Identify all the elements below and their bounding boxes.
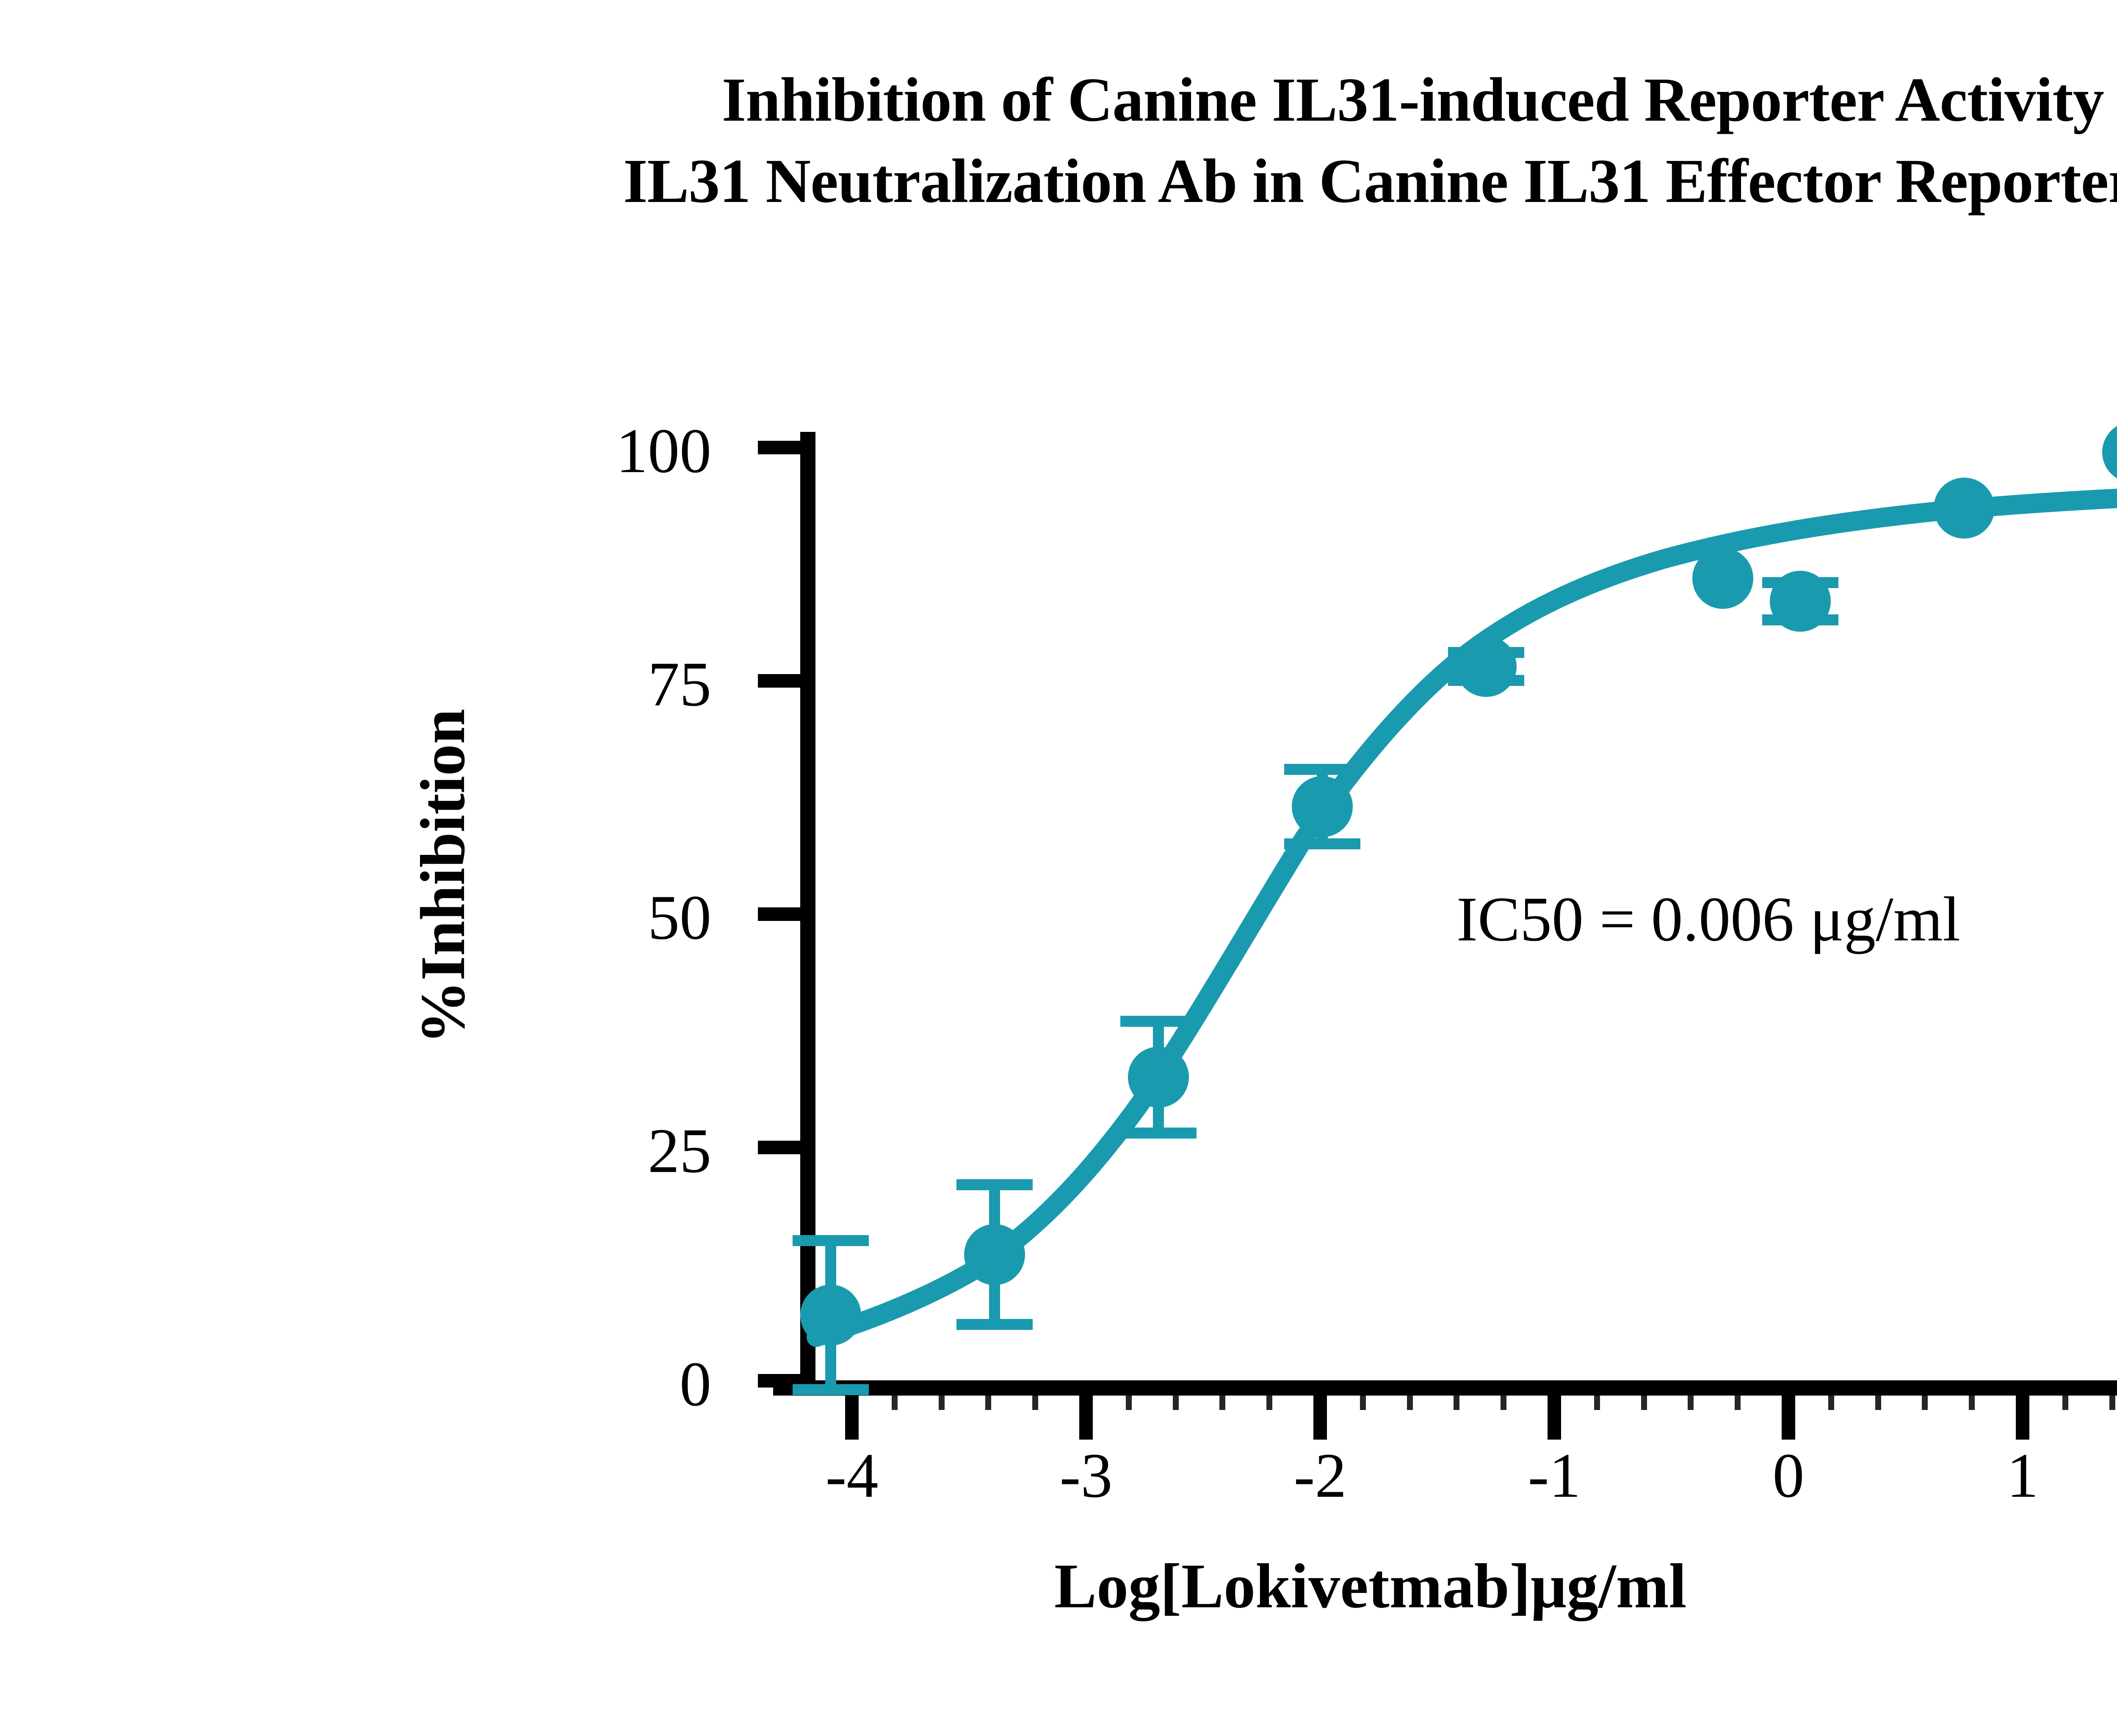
- x-tick-label-0: 0: [1725, 1444, 1852, 1507]
- plot-area: 100 75 50 25 0 -4 -3 -2 -1 0 1 2 %Inhibi…: [0, 0, 2117, 1736]
- data-point: [2102, 422, 2117, 483]
- x-axis-minor-ticks: [892, 1396, 2117, 1410]
- y-axis-title: %Inhibition: [406, 580, 491, 1173]
- figure-root: Inhibition of Canine IL31-induced Report…: [0, 0, 2117, 1736]
- data-point: [800, 1285, 861, 1346]
- x-tick-label--3: -3: [1023, 1444, 1150, 1507]
- x-tick-label--2: -2: [1257, 1444, 1384, 1507]
- y-tick-label-0: 0: [525, 1352, 711, 1416]
- y-tick-label-100: 100: [525, 419, 711, 483]
- x-tick-label-1: 1: [1959, 1444, 2086, 1507]
- data-point: [1456, 636, 1517, 697]
- data-point: [964, 1224, 1025, 1285]
- x-tick-label--4: -4: [788, 1444, 915, 1507]
- y-tick-label-25: 25: [525, 1119, 711, 1183]
- data-point: [1934, 478, 1995, 539]
- data-point: [1692, 548, 1753, 609]
- x-axis-title: Log[Lokivetmab]μg/ml: [0, 1550, 2117, 1623]
- y-tick-label-50: 50: [525, 886, 711, 949]
- x-tick-label--1: -1: [1491, 1444, 1618, 1507]
- y-tick-label-75: 75: [525, 652, 711, 716]
- ic50-annotation: IC50 = 0.006 μg/ml: [1456, 883, 1960, 956]
- data-point: [1128, 1047, 1189, 1108]
- error-bars: [793, 583, 1838, 1390]
- data-point: [1292, 776, 1353, 837]
- data-point: [1770, 571, 1831, 632]
